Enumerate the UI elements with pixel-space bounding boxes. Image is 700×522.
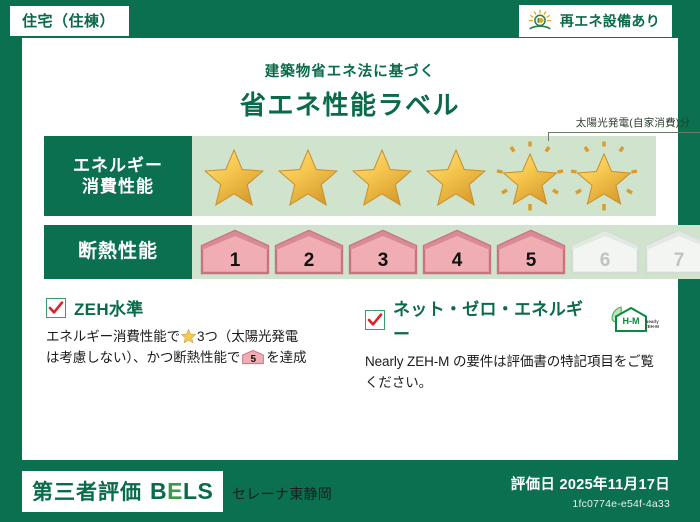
star-filled-3 xyxy=(346,141,418,211)
sun-renewable-icon xyxy=(527,9,553,33)
insulation-grade-1: 1 xyxy=(200,229,270,275)
star-filled-2 xyxy=(272,141,344,211)
energy-performance-label: エネルギー 消費性能 xyxy=(44,136,192,216)
bels-logo: BELS xyxy=(150,478,213,505)
frame-left-bar xyxy=(0,0,22,522)
insulation-performance-row: 断熱性能 1 xyxy=(44,225,656,279)
zeh-criteria-header: ZEH水準 xyxy=(46,295,341,320)
zeh-criteria: ZEH水準 エネルギー消費性能で 3つ（太陽光発電 は考慮しない）、かつ断熱性能… xyxy=(40,295,341,394)
bels-logo-ls: LS xyxy=(183,478,213,504)
net-zero-criteria: ネット・ゼロ・エネルギー H-M Nearly ZEH-M Nearly ZEH… xyxy=(355,295,660,394)
star-rating: 太陽光発電(自家消費)分 xyxy=(192,141,656,211)
insulation-performance-label: 断熱性能 xyxy=(44,225,192,279)
insulation-grade-2-value: 2 xyxy=(274,251,344,270)
insulation-grade-4: 4 xyxy=(422,229,492,275)
insulation-grade-1-value: 1 xyxy=(200,251,270,270)
inline-house-badge-icon: 5 xyxy=(242,349,264,365)
zeh-checkbox xyxy=(46,298,66,318)
insulation-grade-3-value: 3 xyxy=(348,251,418,270)
inline-star-icon xyxy=(181,329,196,344)
insulation-grade-6: 6 xyxy=(570,229,640,275)
energy-performance-label: 住宅（住棟） 再エネ設備あり xyxy=(0,0,700,522)
net-zero-criteria-title: ネット・ゼロ・エネルギー xyxy=(393,295,596,345)
inline-house-value: 5 xyxy=(242,355,264,365)
zeh-criteria-title: ZEH水準 xyxy=(74,295,144,320)
energy-rating-area: 太陽光発電(自家消費)分 xyxy=(192,136,656,216)
zeh-criteria-body: エネルギー消費性能で 3つ（太陽光発電 は考慮しない）、かつ断熱性能で 5 を達… xyxy=(46,327,341,369)
bels-certification-plate: 第三者評価 BELS xyxy=(22,471,223,512)
insulation-grade-4-value: 4 xyxy=(422,251,492,270)
zeh-body-part2: は考慮しない）、かつ断熱性能で xyxy=(46,350,240,365)
insulation-grade-7: 7 xyxy=(644,229,700,275)
label-title: 省エネ性能ラベル xyxy=(32,85,668,122)
house-type-tab: 住宅（住棟） xyxy=(10,6,129,36)
zeh-m-logo-icon: H-M Nearly ZEH-M xyxy=(608,305,660,335)
insulation-grade-2: 2 xyxy=(274,229,344,275)
building-name: セレーナ東静岡 xyxy=(232,484,332,504)
star-filled-4 xyxy=(420,141,492,211)
bels-logo-e: E xyxy=(167,478,183,504)
insulation-grade-5-value: 5 xyxy=(496,251,566,270)
criteria-section: ZEH水準 エネルギー消費性能で 3つ（太陽光発電 は考慮しない）、かつ断熱性能… xyxy=(40,295,660,394)
star-solar-5 xyxy=(494,141,566,211)
star-solar-6 xyxy=(568,141,640,211)
evaluation-date: 評価日 2025年11月17日 xyxy=(511,473,670,494)
net-zero-checkbox xyxy=(365,310,385,330)
insulation-rating-area: 1 2 3 xyxy=(192,225,700,279)
label-footer: 第三者評価 BELS セレーナ東静岡 評価日 2025年11月17日 1fc07… xyxy=(0,460,700,522)
title-block: 建築物省エネ法に基づく 省エネ性能ラベル xyxy=(32,54,668,122)
label-content: 建築物省エネ法に基づく 省エネ性能ラベル エネルギー 消費性能 xyxy=(22,44,678,460)
evaluation-id: 1fc0774e-e54f-4a33 xyxy=(572,498,670,510)
third-party-evaluation-label: 第三者評価 xyxy=(32,476,142,506)
renewable-badge-label: 再エネ設備あり xyxy=(560,11,660,31)
label-subtitle: 建築物省エネ法に基づく xyxy=(32,60,668,81)
svg-text:H-M: H-M xyxy=(623,316,640,326)
zeh-body-part3: を達成 xyxy=(266,350,306,365)
net-zero-criteria-header: ネット・ゼロ・エネルギー H-M Nearly ZEH-M xyxy=(365,295,660,345)
insulation-grade-6-value: 6 xyxy=(570,251,640,270)
energy-performance-row: エネルギー 消費性能 xyxy=(44,136,656,216)
insulation-label-text: 断熱性能 xyxy=(78,240,158,264)
insulation-grade-3: 3 xyxy=(348,229,418,275)
star-filled-1 xyxy=(198,141,270,211)
solar-bracket-line xyxy=(548,132,700,141)
svg-text:ZEH-M: ZEH-M xyxy=(645,324,659,329)
zeh-body-part1: エネルギー消費性能で xyxy=(46,329,180,344)
net-zero-criteria-body: Nearly ZEH-M の要件は評価書の特記項目をご覧ください。 xyxy=(365,352,660,394)
insulation-grade-scale: 1 2 3 xyxy=(192,229,700,275)
house-type-label: 住宅（住棟） xyxy=(22,13,115,30)
insulation-grade-7-value: 7 xyxy=(644,251,700,270)
bels-logo-b: B xyxy=(150,478,167,504)
energy-label-line1: エネルギー xyxy=(73,155,163,176)
insulation-grade-5: 5 xyxy=(496,229,566,275)
renewable-equipment-badge: 再エネ設備あり xyxy=(519,5,672,37)
energy-label-line2: 消費性能 xyxy=(82,176,154,197)
zeh-body-starcount: 3つ（太陽光発電 xyxy=(197,329,298,344)
